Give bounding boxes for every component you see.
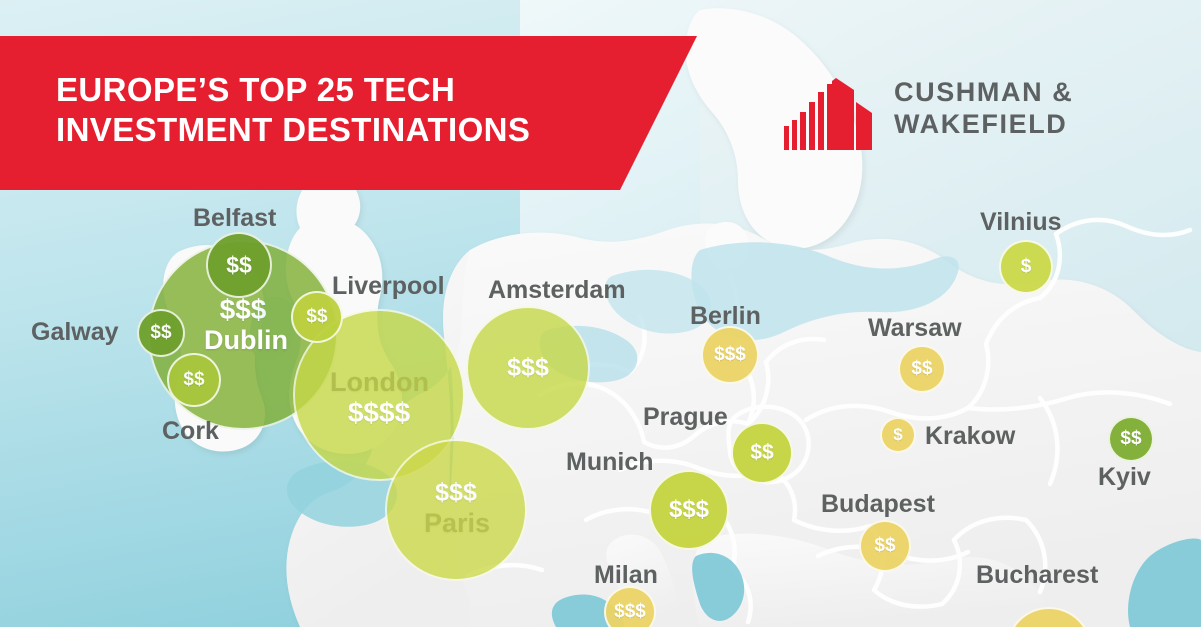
city-label-munich: Munich [566, 448, 654, 477]
bubble-amount-berlin: $$$ [714, 344, 746, 366]
bubble-amount-budapest: $$ [874, 535, 895, 557]
bubble-amount-london: $$$$ [348, 397, 410, 429]
infographic-root: $$$$$$$$$$$$$$$$$$$$$$$$$$$$$$$$$$$$$$$$… [0, 0, 1201, 627]
city-bubble-liverpool[interactable]: $$ [291, 291, 343, 343]
city-bubble-paris[interactable]: $$$ [385, 439, 527, 581]
city-label-krakow: Krakow [925, 422, 1015, 451]
city-label-budapest: Budapest [821, 490, 935, 519]
bubble-amount-liverpool: $$ [306, 306, 327, 328]
city-label-prague: Prague [643, 403, 728, 432]
bubble-amount-munich: $$$ [669, 496, 709, 524]
city-label-dublin: Dublin [204, 325, 288, 356]
city-bubble-cork[interactable]: $$ [167, 353, 221, 407]
bubble-amount-paris: $$$ [435, 479, 477, 508]
city-label-warsaw: Warsaw [868, 314, 962, 343]
city-bubble-amsterdam[interactable]: $$$ [466, 306, 590, 430]
bubble-amount-krakow: $ [893, 425, 902, 445]
city-bubble-warsaw[interactable]: $$ [898, 345, 946, 393]
bubble-amount-cork: $$ [183, 369, 204, 391]
city-bubble-budapest[interactable]: $$ [859, 520, 911, 572]
city-label-galway: Galway [31, 318, 119, 347]
bubble-amount-belfast: $$ [226, 252, 252, 279]
city-label-liverpool: Liverpool [332, 272, 445, 301]
logo-wordmark: CUSHMAN & WAKEFIELD [894, 77, 1073, 141]
city-bubble-krakow[interactable]: $ [880, 417, 916, 453]
bubble-amount-amsterdam: $$$ [507, 354, 549, 383]
city-bubble-prague[interactable]: $$ [731, 422, 793, 484]
city-label-kyiv: Kyiv [1098, 463, 1151, 492]
city-bubble-belfast[interactable]: $$ [206, 232, 272, 298]
bubble-amount-vilnius: $ [1021, 256, 1032, 278]
bubble-amount-warsaw: $$ [911, 358, 932, 380]
bubble-amount-kyiv: $$ [1120, 428, 1141, 450]
city-label-vilnius: Vilnius [980, 208, 1062, 237]
city-label-belfast: Belfast [193, 204, 276, 233]
city-bubble-berlin[interactable]: $$$ [701, 326, 759, 384]
city-label-cork: Cork [162, 417, 219, 446]
bubble-amount-milan: $$$ [614, 601, 646, 623]
cushman-wakefield-building-icon [782, 68, 874, 150]
city-label-bucharest: Bucharest [976, 561, 1098, 590]
page-title: EUROPE’S TOP 25 TECH INVESTMENT DESTINAT… [56, 70, 530, 151]
city-label-amsterdam: Amsterdam [488, 276, 626, 305]
brand-logo[interactable]: CUSHMAN & WAKEFIELD [782, 68, 1073, 150]
bubble-amount-galway: $$ [150, 322, 171, 344]
city-bubble-vilnius[interactable]: $ [999, 240, 1053, 294]
city-bubble-munich[interactable]: $$$ [649, 470, 729, 550]
bubble-amount-prague: $$ [750, 441, 773, 465]
city-bubble-galway[interactable]: $$ [137, 309, 185, 357]
bubble-amount-dublin: $$$ [220, 294, 267, 326]
city-bubble-kyiv[interactable]: $$ [1108, 416, 1154, 462]
